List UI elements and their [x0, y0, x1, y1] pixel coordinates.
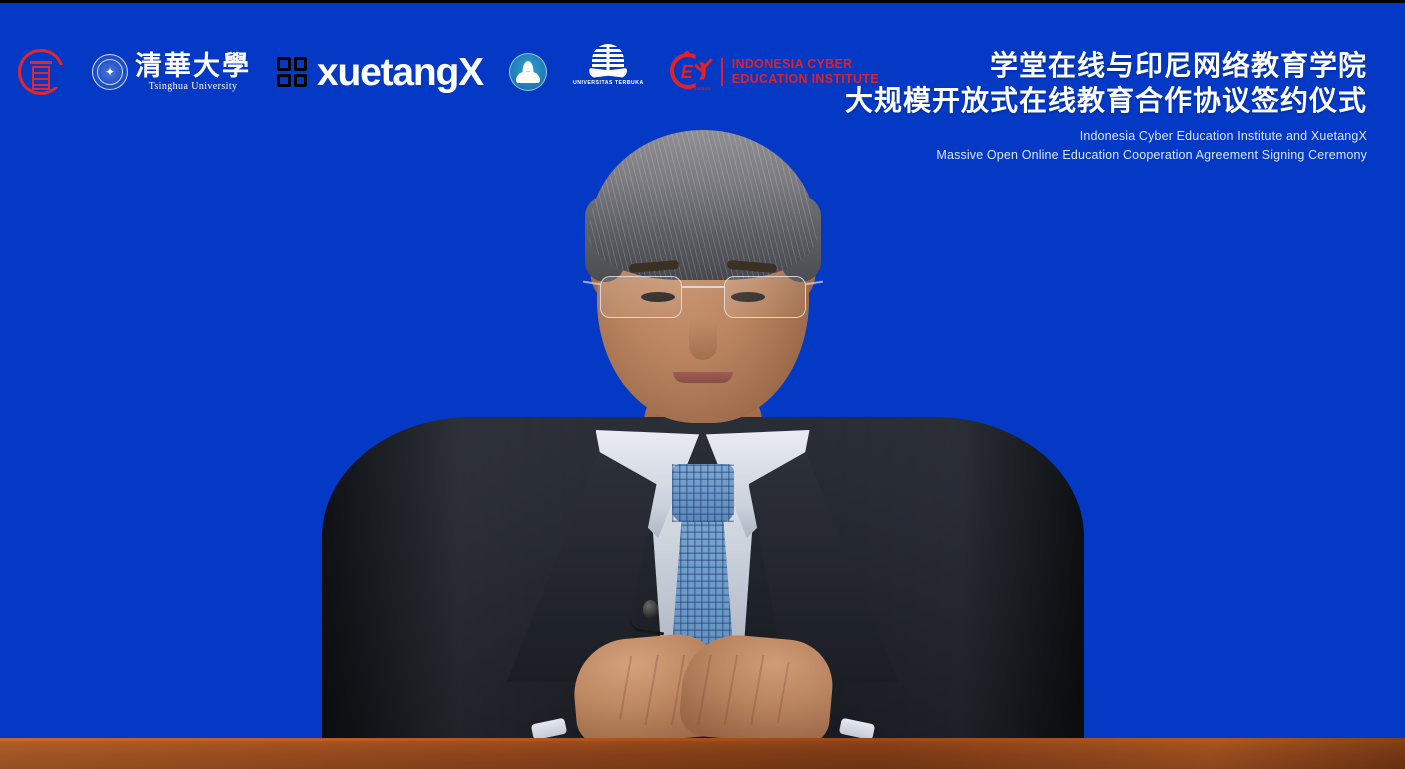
eyeglasses-icon: [600, 276, 806, 322]
wooden-desk: [0, 738, 1405, 769]
speaker-mouth: [673, 372, 733, 383]
logo-tut-wuri-handayani: [483, 44, 547, 100]
logo-xuetangx: xuetangX: [277, 44, 483, 100]
xuetangx-squares-icon: [277, 57, 307, 87]
event-title-en-line1: Indonesia Cyber Education Institute and …: [845, 127, 1367, 146]
logo-universitas-terbuka: UNIVERSITAS TERBUKA: [573, 44, 644, 100]
tut-wuri-handayani-icon: [509, 53, 547, 91]
speaker-knuckles: [604, 655, 802, 725]
speaker-clasped-hands: [578, 629, 828, 741]
speaker-necktie-knot: [672, 464, 734, 522]
event-title-cn-line1: 学堂在线与印尼网络教育学院: [845, 48, 1367, 83]
speaker-hair: [589, 130, 817, 280]
partner-logo-bar: ✦ 清華大學 Tsinghua University xuetangX: [18, 44, 879, 100]
ice-institute-submark: ICE Institute: [684, 86, 712, 91]
speaker-nose: [689, 320, 717, 360]
universitas-terbuka-caption: UNIVERSITAS TERBUKA: [573, 80, 644, 86]
xuetangx-wordmark: xuetangX: [317, 53, 483, 92]
tsinghua-seal-icon: ✦: [92, 54, 128, 90]
event-title-cn-line2: 大规模开放式在线教育合作协议签约仪式: [845, 83, 1367, 118]
logo-hep-seal: [18, 44, 64, 100]
logo-tsinghua: ✦ 清華大學 Tsinghua University: [92, 44, 251, 100]
tsinghua-name-cn: 清華大學: [135, 52, 251, 81]
event-title-block: 学堂在线与印尼网络教育学院 大规模开放式在线教育合作协议签约仪式 Indones…: [845, 48, 1367, 165]
ice-divider: [721, 58, 723, 86]
broadcast-frame: ✦ 清華大學 Tsinghua University xuetangX: [0, 0, 1405, 769]
letterbox-bar-top: [0, 0, 1405, 3]
event-title-en-line2: Massive Open Online Education Cooperatio…: [845, 146, 1367, 165]
tsinghua-name-en: Tsinghua University: [149, 81, 238, 93]
red-circular-seal-icon: [18, 49, 64, 95]
ice-institute-icon: E ICE Institute: [670, 52, 712, 92]
universitas-terbuka-icon: [589, 44, 627, 78]
desk-sheen: [0, 738, 1405, 769]
